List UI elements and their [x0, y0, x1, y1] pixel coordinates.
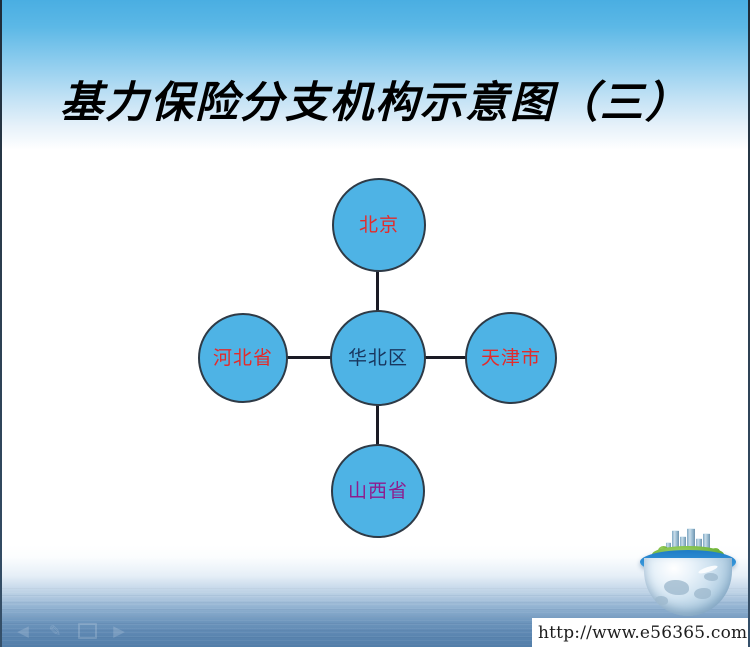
- connector-center-to-south: [376, 404, 379, 446]
- diagram-node-tianjin[interactable]: 天津市: [465, 312, 557, 404]
- presentation-slide: 基力保险分支机构示意图（三） 北京 河北省 华北区 天津市 山西省: [0, 0, 750, 647]
- diagram-node-huabei-center[interactable]: 华北区: [330, 310, 426, 406]
- landmass-shape: [664, 580, 689, 595]
- prev-slide-icon[interactable]: ◀: [14, 623, 32, 639]
- connector-center-to-north: [376, 268, 379, 312]
- diagram-node-label: 河北省: [213, 349, 273, 368]
- pen-tool-icon[interactable]: ✎: [46, 623, 64, 639]
- landmass-shape: [655, 596, 668, 605]
- diagram-node-label: 山西省: [348, 482, 408, 501]
- watermark-url-strip: http://www.e56365.com: [532, 618, 750, 647]
- diagram-node-label: 天津市: [481, 349, 541, 368]
- connector-center-to-east: [424, 356, 468, 359]
- diagram-node-label: 华北区: [348, 349, 408, 368]
- watermark-url[interactable]: http://www.e56365.com: [538, 623, 747, 643]
- slide-left-edge: [0, 0, 2, 647]
- diagram-node-hebei[interactable]: 河北省: [198, 313, 288, 403]
- next-slide-icon[interactable]: ▶: [110, 623, 128, 639]
- diagram-node-shanxi[interactable]: 山西省: [331, 444, 425, 538]
- landmass-shape: [704, 573, 718, 581]
- globe-city-icon: [636, 528, 740, 616]
- diagram-node-label: 北京: [359, 216, 399, 235]
- landmass-shape: [694, 588, 711, 599]
- menu-icon[interactable]: [78, 623, 96, 639]
- connector-center-to-west: [286, 356, 332, 359]
- globe-sphere-shape: [644, 558, 732, 616]
- slideshow-nav-controls[interactable]: ◀ ✎ ▶: [14, 620, 134, 642]
- diagram-node-beijing[interactable]: 北京: [332, 178, 426, 272]
